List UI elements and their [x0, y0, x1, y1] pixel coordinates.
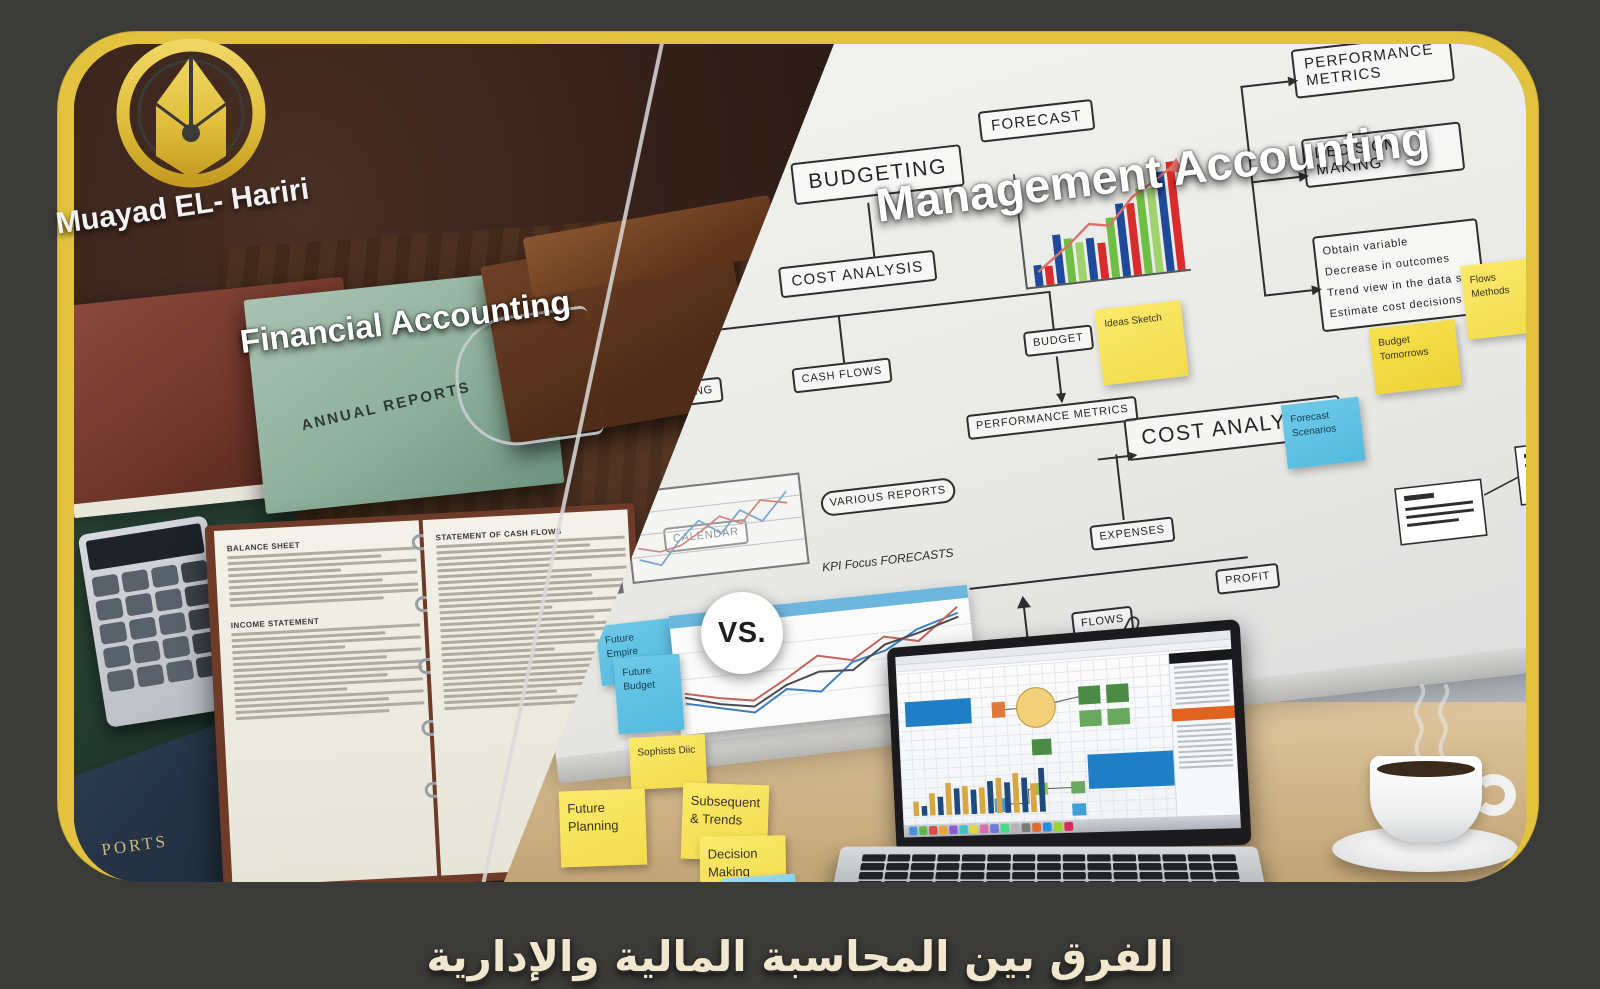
node-profit: PROFIT — [1215, 563, 1281, 595]
sticky-note-budget-tomorrows: Budget Tomorrows — [1369, 319, 1462, 394]
connector-right-branch — [1048, 291, 1055, 331]
connector-cost-branch — [679, 291, 1049, 335]
connector-cost-main-in — [1098, 455, 1128, 460]
connector-budgeting-down — [867, 203, 875, 257]
sticky-note-flows-methods: Flows Methods — [1460, 257, 1526, 340]
node-cash-flows: CASH FLOWS — [791, 357, 892, 393]
connector-cost-main-left — [1115, 454, 1124, 520]
report-document-sketches — [1387, 430, 1526, 565]
node-performance-metrics-inline: PERFORMANCE METRICS — [966, 396, 1139, 440]
sticky-note-future-planning: Future Planning — [559, 789, 648, 868]
versus-badge: VS. — [701, 592, 783, 674]
sticky-note-future-budget: Future Budget — [613, 654, 684, 734]
connector-to-performance — [1240, 81, 1288, 88]
ledger-page-left: BALANCE SHEET INCOME STATEMENT — [214, 520, 437, 882]
node-expenses: EXPENSES — [1089, 516, 1175, 550]
laptop-keyboard[interactable] — [856, 854, 1242, 882]
spreadsheet-bar-chart — [912, 764, 1046, 816]
reports-notebook-label: PORTS — [100, 831, 169, 860]
sticky-note-sophists: Sophists Diic — [629, 734, 708, 790]
coffee-cup — [1370, 756, 1482, 842]
poster-canvas: ANNUAL REPORTS PORTS — [0, 0, 1600, 989]
spreadsheet-side-panel — [1168, 649, 1240, 816]
node-cost-analysis-mid: COST ANALYSIS — [778, 250, 937, 299]
spreadsheet-blue-panel-1 — [905, 698, 972, 727]
connector-right-spine — [1240, 86, 1266, 297]
calculator-keys — [91, 560, 224, 693]
fountain-pen-nib-icon — [116, 38, 266, 188]
node-various-reports: VARIOUS REPORTS — [820, 477, 957, 517]
laptop-screen[interactable] — [895, 630, 1241, 837]
node-performance-metrics: PERFORMANCE METRICS — [1291, 44, 1455, 98]
connector-expenses-branch — [969, 556, 1247, 590]
steam-icon — [1394, 684, 1474, 764]
sticky-note-ideas-sketch: Ideas Sketch — [1095, 300, 1189, 385]
node-budget: BUDGET — [1023, 324, 1094, 356]
connector-budget-down — [1056, 356, 1062, 394]
photo-collage: ANNUAL REPORTS PORTS — [74, 44, 1526, 882]
sticky-note-forecast-scenarios: Forecast Scenarios — [1281, 397, 1366, 469]
laptop — [834, 634, 1264, 882]
connector-to-bullets — [1264, 289, 1312, 296]
laptop-lid — [887, 619, 1252, 853]
node-forecast: FORECAST — [978, 99, 1096, 143]
kpi-focus-note: KPI Focus FORECASTS — [821, 546, 954, 575]
arabic-caption: الفرق بين المحاسبة المالية والإدارية — [0, 932, 1600, 981]
laptop-base — [826, 847, 1271, 882]
annual-reports-label: ANNUAL REPORTS — [300, 379, 473, 435]
spreadsheet-flow-diagram — [985, 675, 1137, 773]
connector-mid-branch — [838, 315, 846, 365]
